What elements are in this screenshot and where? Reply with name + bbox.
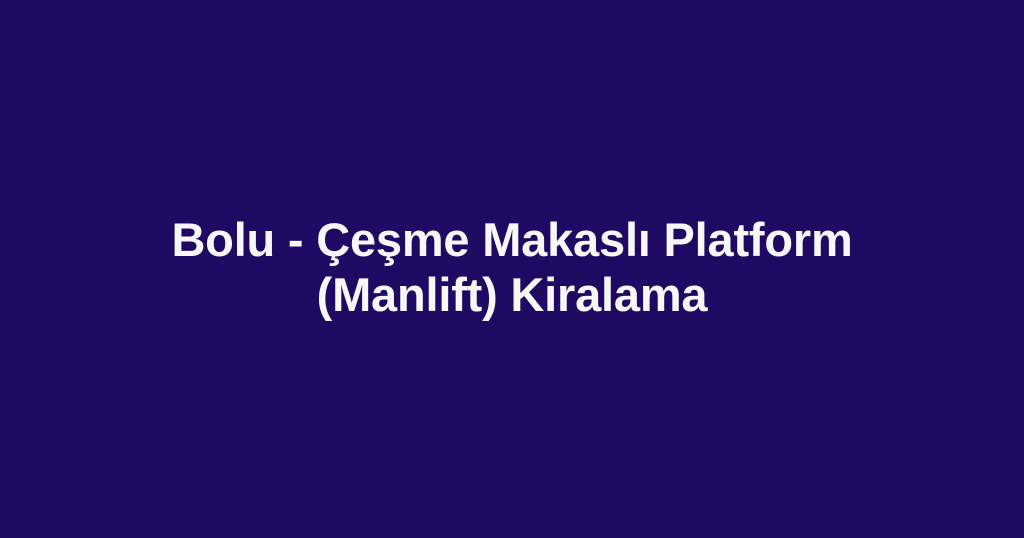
- page-title-line-2: (Manlift) Kiralama: [132, 267, 892, 322]
- page-title: Bolu - Çeşme Makaslı Platform (Manlift) …: [132, 212, 892, 326]
- og-card: Bolu - Çeşme Makaslı Platform (Manlift) …: [0, 0, 1024, 538]
- page-title-line-1: Bolu - Çeşme Makaslı Platform: [132, 212, 892, 267]
